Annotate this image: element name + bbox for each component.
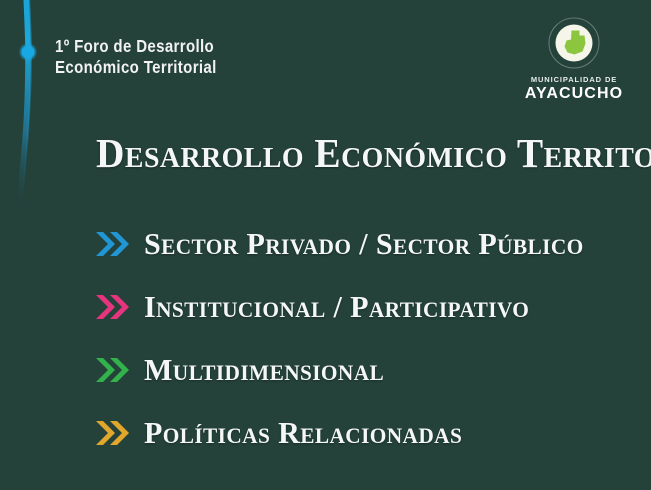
logo-text-ayacucho: AYACUCHO — [515, 84, 633, 103]
curve-stroke — [18, 0, 28, 214]
bullet-item-politicas-relacionadas: Políticas Relacionadas — [96, 401, 616, 464]
bullet-list: Sector Privado / Sector Público Instituc… — [96, 212, 616, 464]
double-chevron-icon — [96, 294, 130, 320]
event-header-line-1: 1º Foro de Desarrollo — [55, 36, 339, 57]
municipality-logo: MUNICIPALIDAD DE AYACUCHO — [515, 16, 633, 103]
curve-node-core — [22, 46, 35, 59]
logo-text-municipalidad: MUNICIPALIDAD DE — [515, 75, 633, 84]
curve-stroke-soft — [20, 0, 31, 218]
double-chevron-icon — [96, 420, 130, 446]
double-chevron-icon — [96, 357, 130, 383]
event-header-line-2: Económico Territorial — [55, 57, 339, 78]
bullet-label: Multidimensional — [144, 352, 384, 388]
bullet-item-sector-privado-publico: Sector Privado / Sector Público — [96, 212, 616, 275]
bullet-label: Institucional / Participativo — [144, 289, 529, 325]
presentation-slide: 1º Foro de Desarrollo Económico Territor… — [0, 0, 651, 490]
double-chevron-icon — [96, 231, 130, 257]
slide-title: Desarrollo Económico Territorial — [96, 129, 651, 177]
bullet-label: Políticas Relacionadas — [144, 415, 462, 451]
bullet-item-multidimensional: Multidimensional — [96, 338, 616, 401]
municipality-circular-emblem-icon — [547, 16, 601, 70]
bullet-label: Sector Privado / Sector Público — [144, 226, 584, 262]
curve-node-dot — [19, 43, 37, 61]
bullet-item-institucional-participativo: Institucional / Participativo — [96, 275, 616, 338]
event-header: 1º Foro de Desarrollo Económico Territor… — [55, 36, 385, 78]
